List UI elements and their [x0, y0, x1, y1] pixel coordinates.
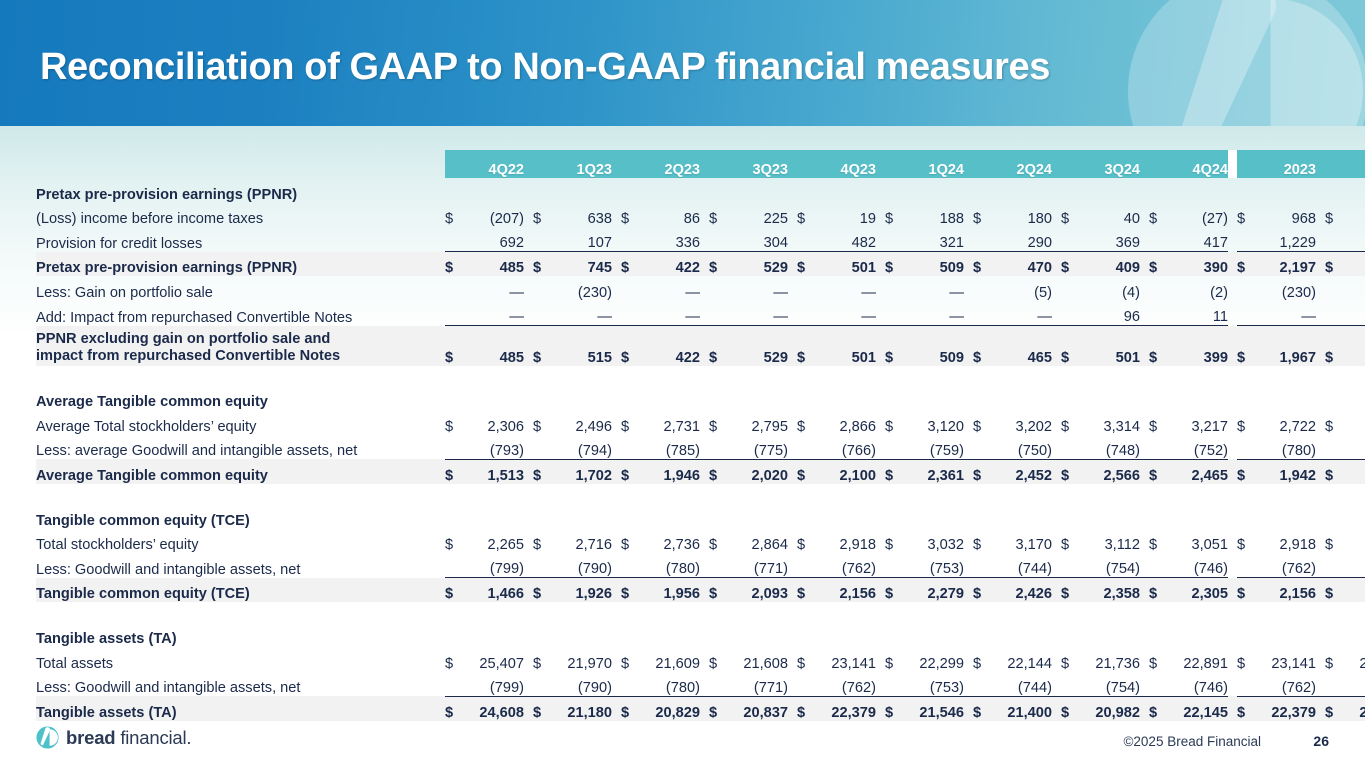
row-currency-1Q23: $	[533, 578, 550, 603]
row-gap	[1316, 410, 1325, 435]
row-value-2024: (746)	[1342, 672, 1365, 697]
row-currency-1Q24: $	[885, 696, 902, 721]
row-currency-4Q24	[1149, 276, 1166, 301]
row-value-3Q24: 20,982	[1078, 696, 1140, 721]
row-gap	[964, 672, 973, 697]
row-currency-4Q22	[445, 435, 462, 460]
column-header-pad-3Q23	[709, 150, 726, 178]
row-divider	[1228, 553, 1237, 578]
row-currency-4Q24: $	[1149, 647, 1166, 672]
row-currency-1Q23: $	[533, 529, 550, 554]
column-header-pad-2023	[1237, 150, 1254, 178]
row-gap	[876, 410, 885, 435]
row-gap	[876, 553, 885, 578]
column-header-gap-4Q22	[524, 150, 533, 178]
table-row: Pretax pre-provision earnings (PPNR)$485…	[36, 252, 1365, 277]
row-currency-2Q23	[621, 276, 638, 301]
row-currency-2024	[1325, 435, 1342, 460]
row-divider	[1228, 276, 1237, 301]
table-row: Provision for credit losses6921073363044…	[36, 227, 1365, 252]
row-value-2023: (230)	[1254, 276, 1316, 301]
row-gap	[1316, 459, 1325, 484]
row-value-2023: 2,722	[1254, 410, 1316, 435]
row-gap	[612, 276, 621, 301]
row-currency-4Q22	[445, 301, 462, 326]
row-gap	[788, 227, 797, 252]
column-header-4Q23: 4Q23	[814, 150, 876, 178]
table-row: Tangible common equity (TCE)$1,466$1,926…	[36, 578, 1365, 603]
row-currency-1Q24	[885, 227, 902, 252]
row-value-2023: —	[1254, 301, 1316, 326]
row-value-3Q23: —	[726, 276, 788, 301]
row-currency-2Q24: $	[973, 459, 990, 484]
row-currency-1Q24	[885, 435, 902, 460]
row-value-4Q24: (27)	[1166, 203, 1228, 228]
row-value-3Q24: 3,314	[1078, 410, 1140, 435]
row-gap	[964, 252, 973, 277]
row-divider	[1228, 578, 1237, 603]
row-currency-3Q24	[1061, 227, 1078, 252]
row-divider	[1228, 459, 1237, 484]
row-gap	[1316, 203, 1325, 228]
section-heading-tangible-assets: Tangible assets (TA)	[36, 622, 445, 647]
row-currency-2024: $	[1325, 578, 1342, 603]
spacer-cell	[36, 366, 1365, 386]
row-gap	[876, 672, 885, 697]
row-gap	[964, 301, 973, 326]
column-header-gap-3Q23	[788, 150, 797, 178]
spacer-row	[36, 366, 1365, 386]
row-gap	[612, 672, 621, 697]
row-currency-4Q22: $	[445, 459, 462, 484]
row-currency-2023	[1237, 435, 1254, 460]
row-value-1Q24: 509	[902, 252, 964, 277]
row-currency-1Q23	[533, 227, 550, 252]
row-currency-4Q22: $	[445, 203, 462, 228]
row-currency-4Q24	[1149, 301, 1166, 326]
row-currency-2Q23	[621, 435, 638, 460]
row-gap	[1140, 326, 1149, 366]
row-value-1Q24: —	[902, 301, 964, 326]
row-currency-4Q24: $	[1149, 459, 1166, 484]
units-note	[36, 150, 445, 178]
row-gap	[524, 672, 533, 697]
row-value-2023: 1,942	[1254, 459, 1316, 484]
row-value-4Q22: 25,407	[462, 647, 524, 672]
column-header-pad-4Q24	[1149, 150, 1166, 178]
row-label: Tangible common equity (TCE)	[36, 578, 445, 603]
row-gap	[788, 301, 797, 326]
spacer-row	[36, 484, 1365, 504]
row-currency-1Q23	[533, 672, 550, 697]
row-gap	[612, 227, 621, 252]
row-value-4Q23: —	[814, 276, 876, 301]
row-label: Average Total stockholders’ equity	[36, 410, 445, 435]
row-value-2Q24: 3,202	[990, 410, 1052, 435]
row-gap	[1140, 227, 1149, 252]
row-currency-2Q23	[621, 553, 638, 578]
section-heading-filler	[445, 178, 1365, 203]
row-gap	[1052, 203, 1061, 228]
row-gap	[876, 459, 885, 484]
row-gap	[1140, 553, 1149, 578]
row-value-3Q23: 529	[726, 326, 788, 366]
row-value-2Q23: (785)	[638, 435, 700, 460]
row-currency-4Q23	[797, 553, 814, 578]
row-divider	[1228, 647, 1237, 672]
row-currency-2Q23: $	[621, 459, 638, 484]
row-value-2Q23: —	[638, 301, 700, 326]
row-gap	[964, 227, 973, 252]
row-currency-2023	[1237, 276, 1254, 301]
row-gap	[1316, 553, 1325, 578]
table-row: Less: Gain on portfolio sale—(230)————(5…	[36, 276, 1365, 301]
row-value-4Q22: (207)	[462, 203, 524, 228]
row-currency-3Q23	[709, 227, 726, 252]
row-currency-2023	[1237, 672, 1254, 697]
row-value-4Q24: 22,891	[1166, 647, 1228, 672]
row-currency-2Q24: $	[973, 647, 990, 672]
row-gap	[1052, 435, 1061, 460]
row-value-2023: (762)	[1254, 553, 1316, 578]
row-gap	[1140, 410, 1149, 435]
row-gap	[1140, 672, 1149, 697]
row-label: Average Tangible common equity	[36, 459, 445, 484]
column-header-1Q24: 1Q24	[902, 150, 964, 178]
column-header-gap-3Q24	[1140, 150, 1149, 178]
row-gap	[1140, 252, 1149, 277]
row-value-2Q24: 180	[990, 203, 1052, 228]
row-gap	[612, 301, 621, 326]
row-value-4Q22: (799)	[462, 553, 524, 578]
row-value-1Q24: —	[902, 276, 964, 301]
row-gap	[524, 696, 533, 721]
row-currency-2024	[1325, 276, 1342, 301]
row-currency-1Q23	[533, 276, 550, 301]
row-gap	[788, 647, 797, 672]
row-value-2Q23: 336	[638, 227, 700, 252]
row-divider	[1228, 252, 1237, 277]
column-header-gap-2023	[1316, 150, 1325, 178]
row-gap	[612, 696, 621, 721]
row-gap	[964, 529, 973, 554]
column-header-gap-1Q24	[964, 150, 973, 178]
row-gap	[612, 459, 621, 484]
row-currency-2023: $	[1237, 410, 1254, 435]
row-divider	[1228, 326, 1237, 366]
row-currency-1Q24: $	[885, 647, 902, 672]
row-currency-2Q23: $	[621, 410, 638, 435]
row-divider	[1228, 696, 1237, 721]
row-currency-2024	[1325, 227, 1342, 252]
table-row: Add: Impact from repurchased Convertible…	[36, 301, 1365, 326]
row-gap	[1316, 672, 1325, 697]
row-label: Tangible assets (TA)	[36, 696, 445, 721]
row-label: Less: average Goodwill and intangible as…	[36, 435, 445, 460]
row-value-4Q23: 2,866	[814, 410, 876, 435]
row-value-4Q22: —	[462, 276, 524, 301]
row-value-1Q23: 1,926	[550, 578, 612, 603]
row-gap	[964, 647, 973, 672]
copyright-text: ©2025 Bread Financial	[1123, 734, 1261, 749]
row-gap	[788, 459, 797, 484]
row-value-2Q23: (780)	[638, 553, 700, 578]
row-divider	[1228, 672, 1237, 697]
row-gap	[700, 252, 709, 277]
row-value-2024: 2,461	[1342, 459, 1365, 484]
row-currency-1Q23: $	[533, 252, 550, 277]
row-value-3Q23: 2,093	[726, 578, 788, 603]
row-value-2Q24: 290	[990, 227, 1052, 252]
section-heading-filler	[445, 504, 1365, 529]
row-gap	[524, 647, 533, 672]
row-value-2Q23: 2,736	[638, 529, 700, 554]
row-currency-2024	[1325, 553, 1342, 578]
row-value-3Q23: (775)	[726, 435, 788, 460]
row-value-1Q24: 321	[902, 227, 964, 252]
row-currency-2023: $	[1237, 578, 1254, 603]
row-value-3Q24: (754)	[1078, 553, 1140, 578]
column-header-pad-3Q24	[1061, 150, 1078, 178]
row-currency-2Q23: $	[621, 647, 638, 672]
row-currency-3Q23	[709, 672, 726, 697]
row-gap	[788, 276, 797, 301]
row-label: PPNR excluding gain on portfolio sale an…	[36, 326, 445, 366]
row-value-2Q24: 3,170	[990, 529, 1052, 554]
row-gap	[1316, 435, 1325, 460]
row-gap	[788, 203, 797, 228]
row-currency-4Q24	[1149, 435, 1166, 460]
row-gap	[1140, 301, 1149, 326]
row-value-2024: 1,397	[1342, 227, 1365, 252]
row-gap	[876, 578, 885, 603]
row-currency-3Q23: $	[709, 459, 726, 484]
row-currency-2023: $	[1237, 326, 1254, 366]
row-value-2Q24: 2,426	[990, 578, 1052, 603]
section-heading-row-tangible-assets: Tangible assets (TA)	[36, 622, 1365, 647]
row-value-4Q23: —	[814, 301, 876, 326]
row-value-3Q24: (748)	[1078, 435, 1140, 460]
section-heading-average-tce: Average Tangible common equity	[36, 386, 445, 411]
row-value-3Q23: (771)	[726, 553, 788, 578]
row-gap	[1316, 276, 1325, 301]
row-value-1Q24: (753)	[902, 553, 964, 578]
row-value-2Q23: 2,731	[638, 410, 700, 435]
column-header-gap-2Q23	[700, 150, 709, 178]
row-currency-1Q23: $	[533, 410, 550, 435]
row-value-2024: (11)	[1342, 276, 1365, 301]
row-value-1Q23: 2,496	[550, 410, 612, 435]
row-gap	[964, 326, 973, 366]
row-gap	[524, 326, 533, 366]
row-value-4Q23: (762)	[814, 553, 876, 578]
row-value-1Q23: (230)	[550, 276, 612, 301]
row-value-2024: 22,145	[1342, 696, 1365, 721]
row-gap	[524, 578, 533, 603]
row-value-2024: (746)	[1342, 553, 1365, 578]
row-gap	[700, 672, 709, 697]
row-divider	[1228, 529, 1237, 554]
row-currency-2Q24: $	[973, 578, 990, 603]
row-value-4Q22: 2,265	[462, 529, 524, 554]
row-gap	[964, 459, 973, 484]
row-value-3Q24: 21,736	[1078, 647, 1140, 672]
row-value-2024: 107	[1342, 301, 1365, 326]
row-gap	[524, 529, 533, 554]
row-gap	[1140, 276, 1149, 301]
table-row: Total stockholders’ equity$2,265$2,716$2…	[36, 529, 1365, 554]
row-currency-1Q24	[885, 672, 902, 697]
row-gap	[612, 410, 621, 435]
row-value-4Q22: 1,466	[462, 578, 524, 603]
row-currency-3Q24	[1061, 301, 1078, 326]
row-currency-3Q23	[709, 276, 726, 301]
row-currency-2024: $	[1325, 326, 1342, 366]
column-header-pad-1Q23	[533, 150, 550, 178]
row-value-4Q22: 1,513	[462, 459, 524, 484]
row-gap	[1052, 252, 1061, 277]
row-label: Add: Impact from repurchased Convertible…	[36, 301, 445, 326]
row-currency-3Q23: $	[709, 252, 726, 277]
page-number: 26	[1313, 733, 1329, 749]
row-value-1Q24: 2,279	[902, 578, 964, 603]
table-row: Less: Goodwill and intangible assets, ne…	[36, 553, 1365, 578]
row-value-4Q22: 485	[462, 326, 524, 366]
row-label: Pretax pre-provision earnings (PPNR)	[36, 252, 445, 277]
row-currency-1Q24: $	[885, 252, 902, 277]
section-heading-tce: Tangible common equity (TCE)	[36, 504, 445, 529]
row-currency-4Q24	[1149, 672, 1166, 697]
row-currency-2024: $	[1325, 203, 1342, 228]
row-value-4Q22: 485	[462, 252, 524, 277]
row-gap	[964, 410, 973, 435]
row-currency-3Q24: $	[1061, 647, 1078, 672]
row-value-2023: 968	[1254, 203, 1316, 228]
row-gap	[788, 435, 797, 460]
row-gap	[876, 227, 885, 252]
row-currency-3Q24: $	[1061, 529, 1078, 554]
row-value-4Q23: 2,100	[814, 459, 876, 484]
row-divider	[1228, 410, 1237, 435]
row-value-1Q23: 2,716	[550, 529, 612, 554]
column-header-gap-1Q23	[612, 150, 621, 178]
row-value-2024: 22,891	[1342, 647, 1365, 672]
row-value-1Q23: (790)	[550, 672, 612, 697]
row-gap	[876, 203, 885, 228]
row-currency-4Q22	[445, 553, 462, 578]
row-currency-2023	[1237, 227, 1254, 252]
logo-wordmark: bread financial.	[66, 727, 191, 749]
row-value-2Q24: 470	[990, 252, 1052, 277]
row-value-2023: (780)	[1254, 435, 1316, 460]
row-value-2Q24: 21,400	[990, 696, 1052, 721]
row-currency-4Q22: $	[445, 529, 462, 554]
row-currency-2024: $	[1325, 410, 1342, 435]
row-value-3Q24: 3,112	[1078, 529, 1140, 554]
row-gap	[964, 203, 973, 228]
row-currency-4Q22: $	[445, 326, 462, 366]
row-currency-4Q24: $	[1149, 410, 1166, 435]
column-header-4Q22: 4Q22	[462, 150, 524, 178]
row-value-4Q24: 3,217	[1166, 410, 1228, 435]
row-gap	[524, 301, 533, 326]
row-currency-2024	[1325, 301, 1342, 326]
row-gap	[876, 301, 885, 326]
row-value-2Q23: 21,609	[638, 647, 700, 672]
row-gap	[788, 252, 797, 277]
row-gap	[788, 672, 797, 697]
row-currency-2023: $	[1237, 252, 1254, 277]
row-gap	[964, 578, 973, 603]
section-heading-row-ppnr: Pretax pre-provision earnings (PPNR)	[36, 178, 1365, 203]
row-gap	[876, 529, 885, 554]
row-currency-1Q23: $	[533, 326, 550, 366]
row-value-2Q24: (744)	[990, 672, 1052, 697]
row-currency-1Q24: $	[885, 529, 902, 554]
row-gap	[1140, 459, 1149, 484]
row-value-1Q24: (759)	[902, 435, 964, 460]
row-gap	[964, 276, 973, 301]
row-value-1Q23: (790)	[550, 553, 612, 578]
row-gap	[1052, 326, 1061, 366]
row-gap	[876, 326, 885, 366]
row-value-2Q23: 422	[638, 326, 700, 366]
row-value-3Q23: 304	[726, 227, 788, 252]
row-currency-4Q22: $	[445, 647, 462, 672]
row-value-2023: 2,197	[1254, 252, 1316, 277]
row-label: Less: Gain on portfolio sale	[36, 276, 445, 301]
row-currency-2023: $	[1237, 529, 1254, 554]
row-gap	[700, 459, 709, 484]
row-currency-3Q23: $	[709, 647, 726, 672]
row-currency-2Q23	[621, 672, 638, 697]
row-currency-2Q24	[973, 435, 990, 460]
row-currency-4Q24: $	[1149, 529, 1166, 554]
row-value-2024: (753)	[1342, 435, 1365, 460]
table-row: Total assets$25,407$21,970$21,609$21,608…	[36, 647, 1365, 672]
row-gap	[876, 252, 885, 277]
row-gap	[700, 203, 709, 228]
row-gap	[1316, 696, 1325, 721]
row-value-3Q24: (754)	[1078, 672, 1140, 697]
row-currency-4Q23	[797, 227, 814, 252]
row-value-4Q22: 692	[462, 227, 524, 252]
row-gap	[1140, 696, 1149, 721]
row-currency-2024: $	[1325, 252, 1342, 277]
row-value-4Q23: 22,379	[814, 696, 876, 721]
row-currency-4Q23	[797, 435, 814, 460]
row-currency-3Q24	[1061, 435, 1078, 460]
row-value-3Q23: 21,608	[726, 647, 788, 672]
row-currency-4Q22	[445, 672, 462, 697]
row-label: Less: Goodwill and intangible assets, ne…	[36, 672, 445, 697]
table-row: Average Tangible common equity$1,513$1,7…	[36, 459, 1365, 484]
row-value-1Q24: 2,361	[902, 459, 964, 484]
row-currency-1Q24: $	[885, 459, 902, 484]
spacer-row	[36, 602, 1365, 622]
row-value-2024: 1,874	[1342, 326, 1365, 366]
row-currency-4Q23	[797, 301, 814, 326]
row-currency-4Q24: $	[1149, 326, 1166, 366]
row-value-2Q24: 465	[990, 326, 1052, 366]
bread-logo-icon	[36, 726, 59, 749]
row-label: (Loss) income before income taxes	[36, 203, 445, 228]
section-heading-filler	[445, 622, 1365, 647]
row-currency-1Q24	[885, 301, 902, 326]
row-currency-3Q23: $	[709, 529, 726, 554]
column-header-pad-2024	[1325, 150, 1342, 178]
row-currency-2023: $	[1237, 459, 1254, 484]
